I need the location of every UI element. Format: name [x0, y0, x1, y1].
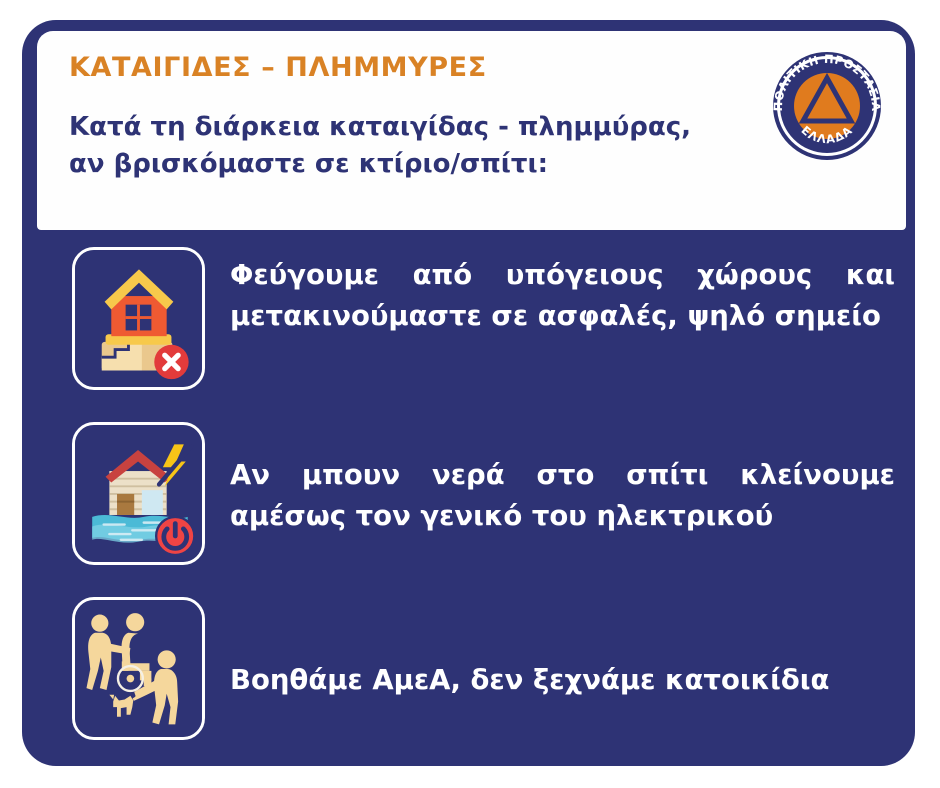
list-item: Αν μπουν νερά στο σπίτι κλείνουμε αμέσως…: [0, 422, 940, 597]
poster-root: ΚΑΤΑΙΓΙΔΕΣ – ΠΛΗΜΜΥΡΕΣ Κατά τη διάρκεια …: [0, 0, 940, 788]
page-subtitle: Κατά τη διάρκεια καταιγίδας - πλημμύρας,…: [69, 109, 749, 183]
list-item: Βοηθάμε ΑμεΑ, δεν ξεχνάμε κατοικίδια: [0, 597, 940, 772]
header-card: ΚΑΤΑΙΓΙΔΕΣ – ΠΛΗΜΜΥΡΕΣ Κατά τη διάρκεια …: [37, 31, 906, 230]
flooded-house-power-off-icon: [72, 422, 205, 565]
subtitle-line-1: Κατά τη διάρκεια καταιγίδας - πλημμύρας,: [69, 109, 749, 146]
tips-list: Φεύγουμε από υπόγειους χώρους και μετακι…: [0, 247, 940, 772]
wheelchair-assistance-pets-icon: [72, 597, 205, 740]
subtitle-line-2: αν βρισκόμαστε σε κτίριο/σπίτι:: [69, 146, 749, 183]
page-title: ΚΑΤΑΙΓΙΔΕΣ – ΠΛΗΜΜΥΡΕΣ: [69, 53, 876, 83]
list-item: Φεύγουμε από υπόγειους χώρους και μετακι…: [0, 247, 940, 422]
list-item-text: Φεύγουμε από υπόγειους χώρους και μετακι…: [230, 247, 895, 338]
list-item-text: Βοηθάμε ΑμεΑ, δεν ξεχνάμε κατοικίδια: [230, 597, 895, 701]
civil-protection-logo: ΠΟΛΙΤΙΚΗ ΠΡΟΣΤΑΣΙΑ ΕΛΛΑΔΑ: [766, 45, 888, 167]
list-item-text: Αν μπουν νερά στο σπίτι κλείνουμε αμέσως…: [230, 422, 895, 538]
house-on-stilts-no-entry-icon: [72, 247, 205, 390]
